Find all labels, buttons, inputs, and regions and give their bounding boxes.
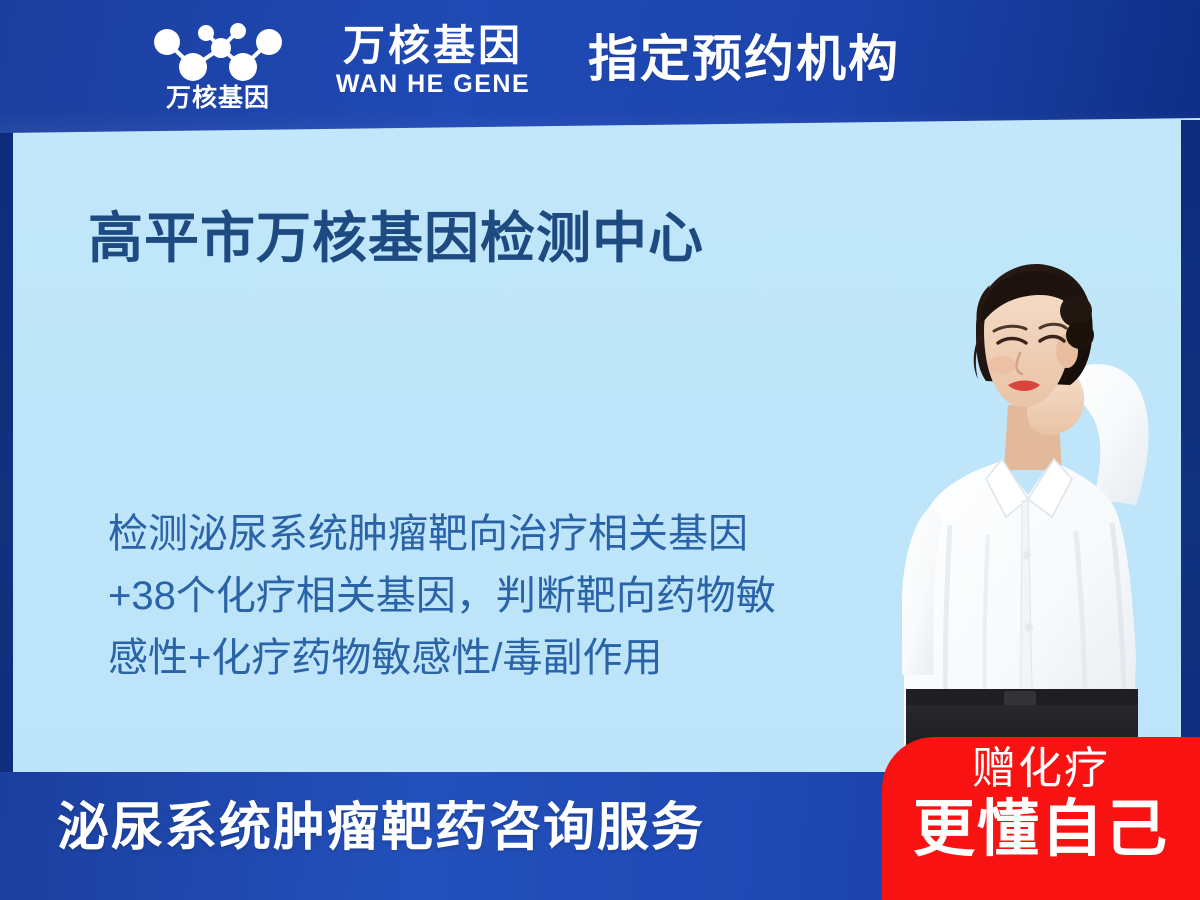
- description-line: 感性+化疗药物敏感性/毒副作用: [108, 627, 868, 689]
- model-photo: [880, 255, 1192, 780]
- promo-badge: 赠化疗 更懂自己: [882, 737, 1200, 900]
- description-line: 检测泌尿系统肿瘤靶向治疗相关基因: [108, 503, 868, 565]
- logo-mark-label: 万核基因: [166, 86, 270, 111]
- brand-logo: 万核基因: [143, 22, 293, 114]
- brand-name-block: 万核基因 WAN HE GENE: [318, 22, 548, 99]
- brand-name-en: WAN HE GENE: [336, 71, 530, 99]
- page-title: 高平市万核基因检测中心: [88, 207, 704, 270]
- header-tagline: 指定预约机构: [588, 34, 900, 84]
- promo-badge-line2: 更懂自己: [913, 793, 1169, 866]
- header-content: 万核基因 万核基因 WAN HE GENE 指定预约机构: [0, 0, 1200, 120]
- brand-name-cn: 万核基因: [343, 22, 523, 69]
- footer-service-text: 泌尿系统肿瘤靶药咨询服务: [57, 802, 705, 854]
- service-description: 检测泌尿系统肿瘤靶向治疗相关基因 +38个化疗相关基因，判断靶向药物敏 感性+化…: [108, 503, 868, 689]
- header-banner: 万核基因 万核基因 WAN HE GENE 指定预约机构: [0, 0, 1200, 140]
- promo-badge-line1: 赠化疗: [972, 743, 1110, 795]
- promotional-poster: 万核基因 万核基因 WAN HE GENE 指定预约机构 高平市万核基因检测中心…: [0, 0, 1200, 900]
- molecule-network-icon: [143, 22, 293, 84]
- description-line: +38个化疗相关基因，判断靶向药物敏: [108, 565, 868, 627]
